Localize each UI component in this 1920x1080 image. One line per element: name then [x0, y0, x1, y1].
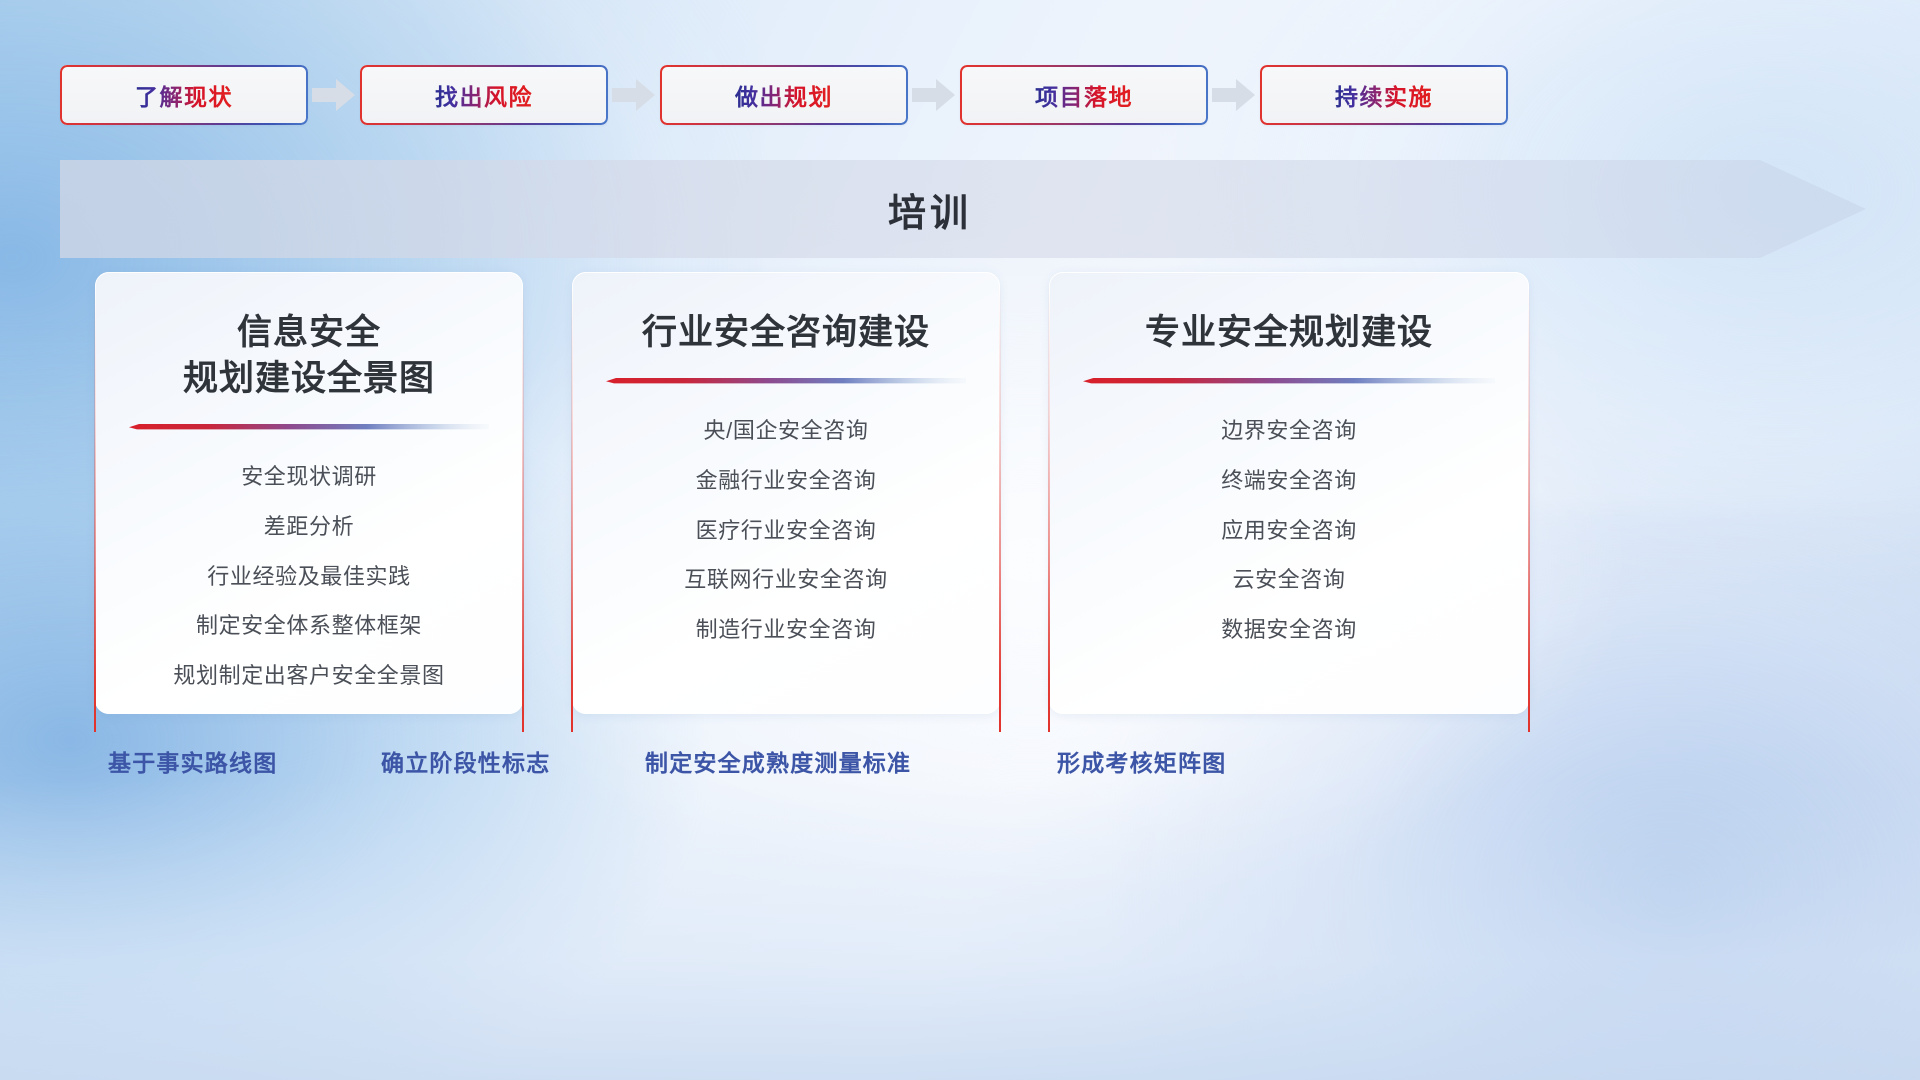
training-banner: 培训: [60, 160, 1866, 258]
training-banner-title: 培训: [60, 160, 1800, 258]
card-information-security-blueprint[interactable]: 信息安全 规划建设全景图: [95, 272, 523, 714]
card-title: 行业安全咨询建设: [642, 310, 930, 356]
card-item-list: 央/国企安全咨询 金融行业安全咨询 医疗行业安全咨询 互联网行业安全咨询 制造行…: [606, 411, 966, 650]
list-item: 规划制定出客户安全全景图: [173, 656, 444, 697]
list-item: 终端安全咨询: [1221, 461, 1357, 502]
list-item: 制造行业安全咨询: [696, 610, 877, 651]
list-item: 应用安全咨询: [1221, 511, 1357, 552]
card-item-list: 安全现状调研 差距分析 行业经验及最佳实践 制定安全体系整体框架 规划制定出客户…: [129, 457, 489, 696]
step-arrow-icon-2: [608, 74, 660, 116]
process-step-4-label: 项目落地: [1035, 78, 1133, 112]
list-item: 央/国企安全咨询: [704, 411, 869, 452]
gradient-divider-icon: [129, 424, 489, 433]
process-step-4[interactable]: 项目落地: [960, 65, 1208, 125]
bottom-label-3: 制定安全成熟度测量标准: [645, 744, 911, 778]
process-step-2-label: 找出风险: [435, 78, 533, 112]
slide-canvas: 了解现状 找出风险 做出规划 项目落地: [0, 0, 1920, 1080]
step-arrow-icon-4: [1208, 74, 1260, 116]
gradient-divider-icon: [1083, 378, 1495, 387]
list-item: 差距分析: [264, 507, 354, 548]
list-item: 制定安全体系整体框架: [196, 606, 422, 647]
list-item: 医疗行业安全咨询: [696, 511, 877, 552]
card-title: 专业安全规划建设: [1145, 310, 1433, 356]
process-step-3-label: 做出规划: [735, 78, 833, 112]
process-step-2[interactable]: 找出风险: [360, 65, 608, 125]
process-step-5-label: 持续实施: [1335, 78, 1433, 112]
process-step-3[interactable]: 做出规划: [660, 65, 908, 125]
card-professional-security-planning[interactable]: 专业安全规划建设: [1049, 272, 1529, 714]
list-item: 安全现状调研: [241, 457, 377, 498]
card-item-list: 边界安全咨询 终端安全咨询 应用安全咨询 云安全咨询 数据安全咨询: [1083, 411, 1495, 650]
bottom-label-2: 确立阶段性标志: [381, 744, 550, 778]
list-item: 数据安全咨询: [1221, 610, 1357, 651]
background-bottom-fade: [0, 780, 1920, 1080]
process-step-flow: 了解现状 找出风险 做出规划 项目落地: [60, 64, 1860, 126]
bottom-label-4: 形成考核矩阵图: [1057, 744, 1226, 778]
process-step-1[interactable]: 了解现状: [60, 65, 308, 125]
card-row: 信息安全 规划建设全景图: [95, 272, 1835, 714]
card-title: 信息安全 规划建设全景图: [183, 310, 435, 402]
gradient-divider-icon: [606, 378, 966, 387]
list-item: 互联网行业安全咨询: [684, 560, 887, 601]
bottom-label-1: 基于事实路线图: [108, 744, 277, 778]
process-step-1-label: 了解现状: [135, 78, 233, 112]
list-item: 金融行业安全咨询: [696, 461, 877, 502]
process-step-5[interactable]: 持续实施: [1260, 65, 1508, 125]
list-item: 云安全咨询: [1232, 560, 1345, 601]
list-item: 边界安全咨询: [1221, 411, 1357, 452]
list-item: 行业经验及最佳实践: [207, 557, 410, 598]
bottom-outcome-labels: 基于事实路线图 确立阶段性标志 制定安全成熟度测量标准 形成考核矩阵图: [0, 744, 1920, 788]
step-arrow-icon-3: [908, 74, 960, 116]
step-arrow-icon-1: [308, 74, 360, 116]
card-industry-security-consulting[interactable]: 行业安全咨询建设: [572, 272, 1000, 714]
